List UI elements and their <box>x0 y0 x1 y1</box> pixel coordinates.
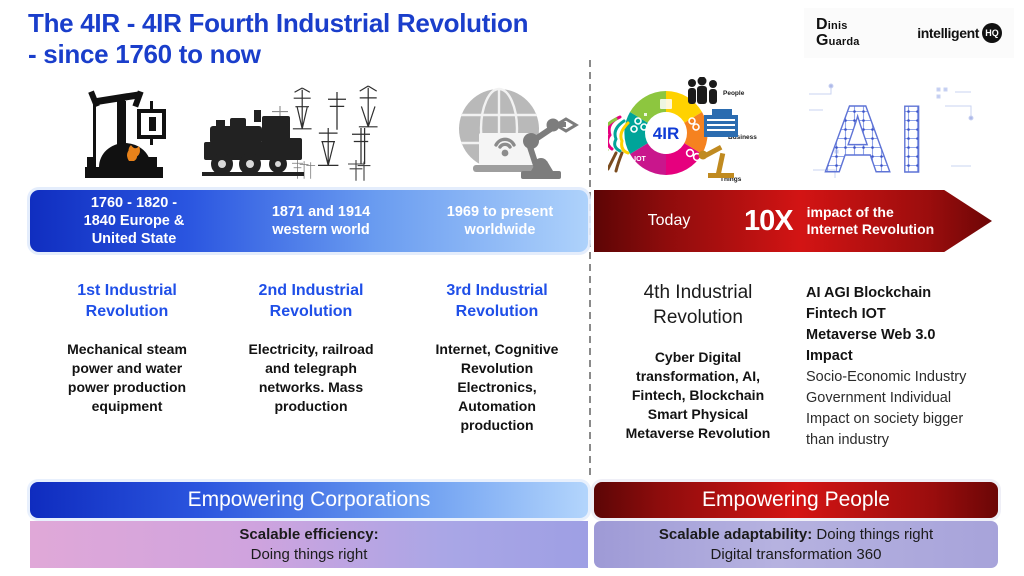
impact-description: impact of the Internet Revolution <box>807 204 935 238</box>
impact-list-light: Socio-Economic Industry Government Indiv… <box>806 367 1021 451</box>
page-title: The 4IR - 4IR Fourth Industrial Revoluti… <box>28 8 528 70</box>
revolution-column-4: 4th Industrial Revolution Cyber Digital … <box>598 280 798 443</box>
scalable-adaptability-label: Scalable adaptability: <box>659 526 812 543</box>
column-body-4: Cyber Digital transformation, AI, Fintec… <box>598 348 798 443</box>
red-today-arrow: Today 10X impact of the Internet Revolut… <box>594 190 992 252</box>
column-body-1: Mechanical steam power and water power p… <box>32 340 222 416</box>
dinis-guarda-logo: Dinis Guarda <box>816 17 860 49</box>
timeline-segment-1: 1760 - 1820 - 1840 Europe & United State <box>30 194 230 248</box>
dinis-logo-d: D <box>816 16 828 33</box>
scalable-efficiency-text: Doing things right <box>251 545 368 565</box>
revolution-column-1: 1st Industrial Revolution Mechanical ste… <box>32 280 222 416</box>
guarda-logo-text: uarda <box>829 36 860 48</box>
intelligenthq-logo: intelligent HQ <box>917 23 1002 43</box>
revolution-column-3: 3rd Industrial Revolution Internet, Cogn… <box>402 280 592 435</box>
column-heading-1: 1st Industrial Revolution <box>32 280 222 322</box>
scalable-adaptability-panel: Scalable adaptability: Doing things righ… <box>594 521 998 568</box>
header: The 4IR - 4IR Fourth Industrial Revoluti… <box>0 0 1024 68</box>
timeline-segment-3: 1969 to present worldwide <box>412 203 588 239</box>
ai-circuit-text: AI <box>823 86 931 185</box>
svg-text:IOT: IOT <box>634 156 646 163</box>
logo-group: Dinis Guarda intelligent HQ <box>804 8 1014 58</box>
steam-engine-icon <box>50 76 190 188</box>
digital-transformation-text: Digital transformation 360 <box>711 545 882 565</box>
blue-timeline-bar: 1760 - 1820 - 1840 Europe & United State… <box>30 190 588 252</box>
timeline-segment-2: 1871 and 1914 western world <box>230 203 412 239</box>
scalable-adaptability-text: Doing things right <box>812 526 933 543</box>
scalable-efficiency-panel: Scalable efficiency: Doing things right <box>30 521 588 568</box>
empowering-people-label: Empowering People <box>702 488 890 512</box>
column-heading-2: 2nd Industrial Revolution <box>216 280 406 322</box>
dinis-logo-text: inis <box>828 20 848 32</box>
today-label: Today <box>594 212 744 230</box>
empowering-people-banner: Empowering People <box>594 482 998 518</box>
illustration-row: 4IR IOT <box>0 76 1024 188</box>
empowering-corporations-banner: Empowering Corporations <box>30 482 588 518</box>
four-ir-wheel-icon: 4IR IOT <box>608 76 776 188</box>
impact-multiplier: 10X <box>744 205 793 238</box>
scalable-efficiency-label: Scalable efficiency: <box>239 526 378 543</box>
revolution-column-2: 2nd Industrial Revolution Electricity, r… <box>216 280 406 416</box>
column-heading-3: 3rd Industrial Revolution <box>402 280 592 322</box>
impact-list-bold: AI AGI Blockchain Fintech IOT Metaverse … <box>806 283 1021 367</box>
column-body-3: Internet, Cognitive Revolution Electroni… <box>402 340 592 435</box>
impact-list-column: AI AGI Blockchain Fintech IOT Metaverse … <box>806 283 1021 451</box>
wheel-label-people: People <box>723 90 745 97</box>
ai-circuit-icon: AI <box>800 76 980 188</box>
empowering-corporations-label: Empowering Corporations <box>188 488 431 512</box>
column-body-2: Electricity, railroad and telegraph netw… <box>216 340 406 416</box>
globe-robot-arm-icon <box>450 76 585 188</box>
locomotive-pylons-icon <box>200 76 380 188</box>
hq-badge-icon: HQ <box>982 23 1002 43</box>
column-heading-4: 4th Industrial Revolution <box>598 280 798 330</box>
four-ir-wheel-center-label: 4IR <box>653 124 679 143</box>
intelligent-logo-text: intelligent <box>917 25 979 41</box>
guarda-logo-g: G <box>816 32 829 49</box>
